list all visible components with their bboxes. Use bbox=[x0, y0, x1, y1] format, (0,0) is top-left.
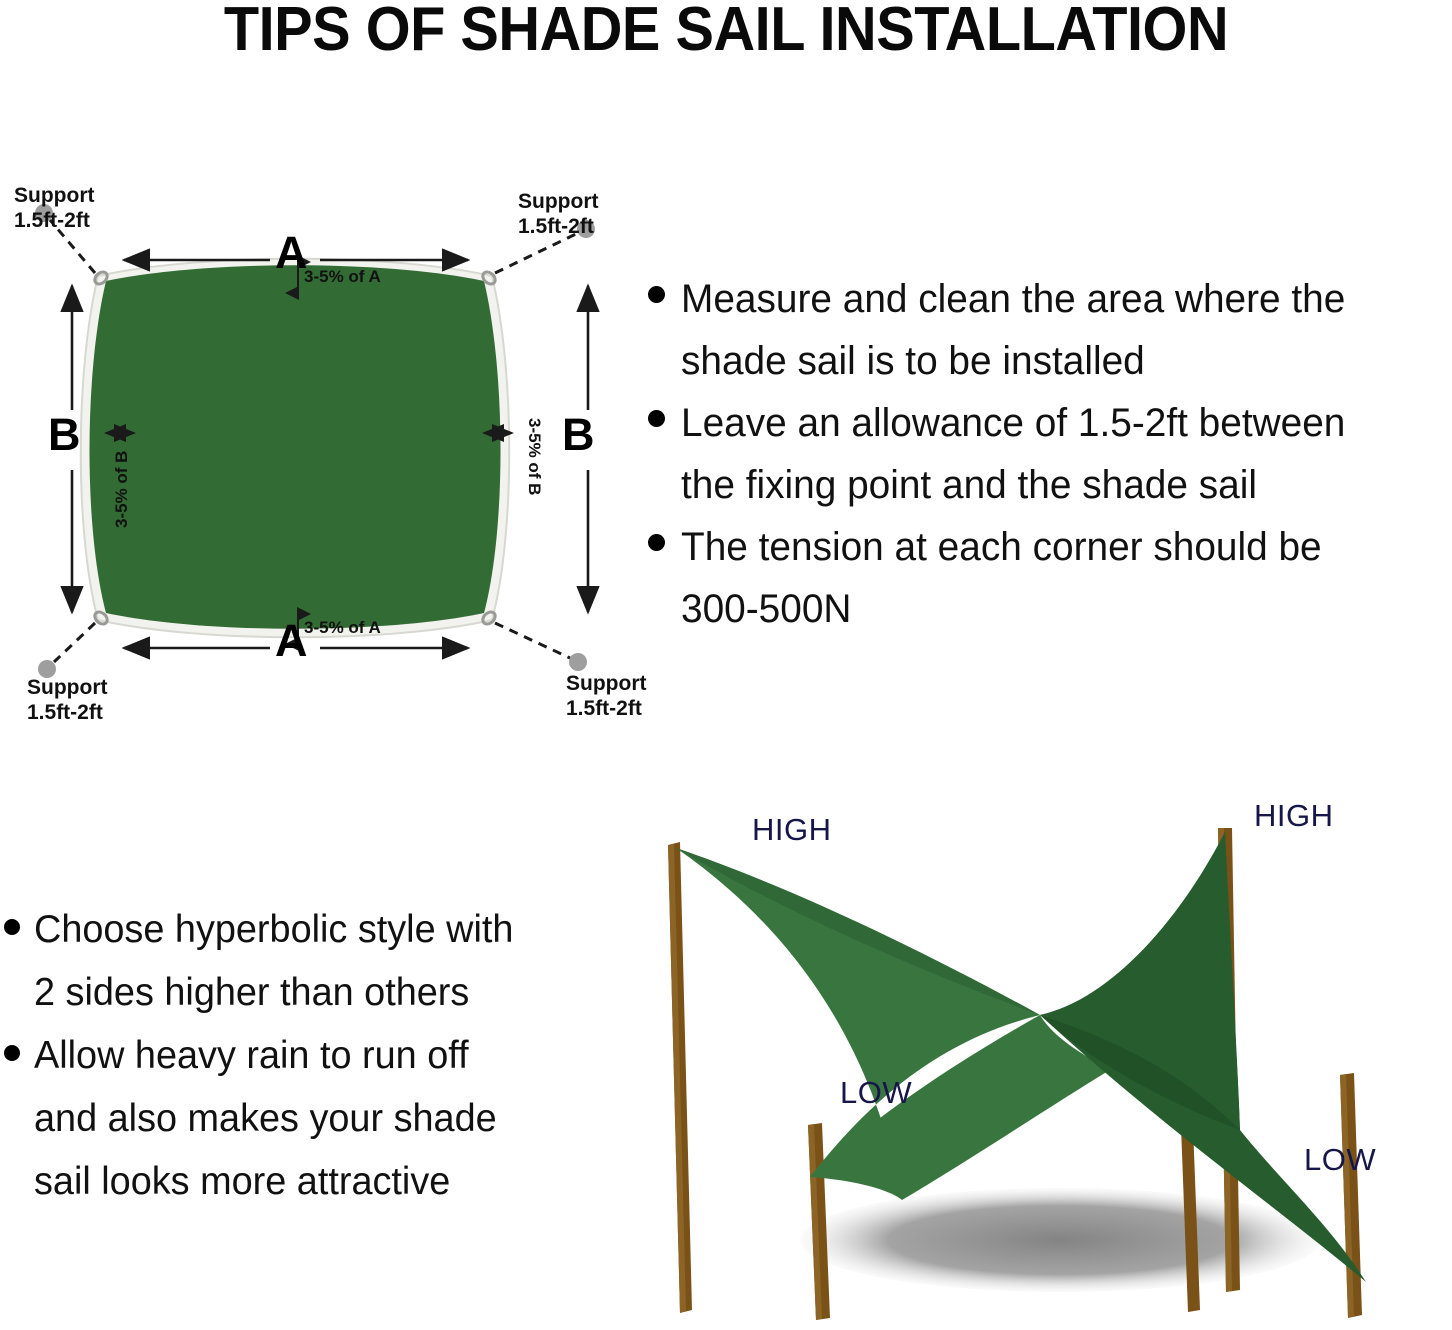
bullet-spacer-icon bbox=[648, 472, 665, 489]
hyperbolic-style-tips-list: Choose hyperbolic style with 2 sides hig… bbox=[4, 898, 624, 1213]
support-label-line2: 1.5ft-2ft bbox=[518, 215, 594, 238]
curvature-note-left: 3-5% of B bbox=[112, 451, 132, 528]
support-label-top-right: Support 1.5ft-2ft bbox=[518, 190, 598, 240]
label-high-left: HIGH bbox=[752, 812, 832, 848]
curvature-note-bottom: 3-5% of A bbox=[304, 618, 381, 638]
dimension-letter-top: A bbox=[275, 230, 308, 275]
support-line-bottom-left bbox=[54, 623, 95, 662]
label-low-right: LOW bbox=[1304, 1142, 1376, 1178]
list-item: 300-500N bbox=[648, 578, 1452, 640]
list-item: The tension at each corner should be bbox=[648, 516, 1452, 578]
list-item: Allow heavy rain to run off bbox=[4, 1024, 624, 1087]
list-item: Leave an allowance of 1.5-2ft between bbox=[648, 392, 1452, 454]
support-label-line2: 1.5ft-2ft bbox=[14, 209, 90, 232]
bullet-spacer-icon bbox=[648, 596, 665, 613]
support-label-bottom-left: Support 1.5ft-2ft bbox=[27, 676, 107, 726]
hyperbolic-sail-svg bbox=[640, 770, 1452, 1325]
list-item: shade sail is to be installed bbox=[648, 330, 1452, 392]
support-label-line1: Support bbox=[14, 184, 94, 207]
bullet-icon bbox=[4, 919, 20, 935]
dimension-letter-left: B bbox=[48, 412, 81, 457]
list-item-text: 2 sides higher than others bbox=[34, 961, 469, 1024]
list-item: 2 sides higher than others bbox=[4, 961, 624, 1024]
list-item-text: the fixing point and the shade sail bbox=[681, 454, 1257, 516]
sail-body bbox=[90, 265, 501, 629]
bullet-spacer-icon bbox=[4, 1171, 20, 1187]
list-item-text: The tension at each corner should be bbox=[681, 516, 1322, 578]
support-label-line2: 1.5ft-2ft bbox=[27, 701, 103, 724]
dimension-letter-bottom: A bbox=[275, 618, 308, 663]
rect-sail-svg bbox=[0, 150, 660, 750]
curvature-note-right: 3-5% of B bbox=[524, 418, 544, 495]
support-line-bottom-right bbox=[495, 623, 570, 658]
bullet-spacer-icon bbox=[648, 348, 665, 365]
list-item-text: Choose hyperbolic style with bbox=[34, 898, 513, 961]
bullet-icon bbox=[4, 1045, 20, 1061]
installation-tips-list: Measure and clean the area where the sha… bbox=[648, 268, 1452, 640]
page-title: TIPS OF SHADE SAIL INSTALLATION bbox=[51, 0, 1401, 65]
list-item-text: Allow heavy rain to run off bbox=[34, 1024, 469, 1087]
label-low-left: LOW bbox=[840, 1075, 912, 1111]
list-item-text: Measure and clean the area where the bbox=[681, 268, 1345, 330]
curvature-note-top: 3-5% of A bbox=[304, 267, 381, 287]
bullet-spacer-icon bbox=[4, 982, 20, 998]
list-item: Measure and clean the area where the bbox=[648, 268, 1452, 330]
list-item-text: shade sail is to be installed bbox=[681, 330, 1145, 392]
bullet-icon bbox=[648, 410, 665, 427]
list-item: Choose hyperbolic style with bbox=[4, 898, 624, 961]
list-item-text: 300-500N bbox=[681, 578, 851, 640]
bullet-icon bbox=[648, 286, 665, 303]
support-dot-bottom-right bbox=[569, 653, 587, 671]
support-label-line1: Support bbox=[27, 676, 107, 699]
list-item-text: Leave an allowance of 1.5-2ft between bbox=[681, 392, 1345, 454]
list-item: and also makes your shade bbox=[4, 1087, 624, 1150]
list-item: the fixing point and the shade sail bbox=[648, 454, 1452, 516]
rectangular-sail-diagram: Support 1.5ft-2ft Support 1.5ft-2ft Supp… bbox=[0, 150, 660, 750]
ground-shadow bbox=[800, 1188, 1320, 1292]
hyperbolic-sail-diagram: HIGH HIGH LOW LOW bbox=[640, 770, 1452, 1325]
support-label-bottom-right: Support 1.5ft-2ft bbox=[566, 672, 646, 722]
support-label-line1: Support bbox=[518, 190, 598, 213]
support-label-top-left: Support 1.5ft-2ft bbox=[14, 184, 94, 234]
list-item-text: and also makes your shade bbox=[34, 1087, 497, 1150]
support-label-line1: Support bbox=[566, 672, 646, 695]
list-item-text: sail looks more attractive bbox=[34, 1150, 450, 1213]
bullet-spacer-icon bbox=[4, 1108, 20, 1124]
bullet-icon bbox=[648, 534, 665, 551]
support-label-line2: 1.5ft-2ft bbox=[566, 697, 642, 720]
label-high-right: HIGH bbox=[1254, 798, 1334, 834]
dimension-letter-right: B bbox=[562, 412, 595, 457]
list-item: sail looks more attractive bbox=[4, 1150, 624, 1213]
